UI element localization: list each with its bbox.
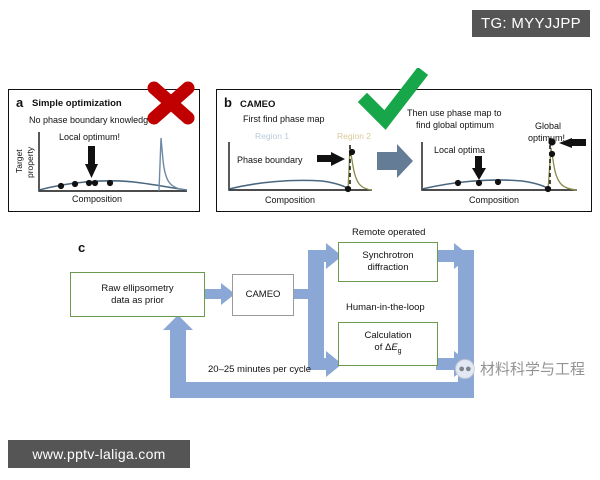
block-right-arrow-icon [377,144,413,178]
flow-arrows [60,222,540,418]
flow-box-calculation[interactable]: Calculation of ΔEg [338,322,438,366]
panel-b-plots [217,90,593,213]
panel-a-plot [9,90,201,213]
flow-box-synchrotron-line1: Synchrotron [362,250,413,262]
cycle-time-note: 20–25 minutes per cycle [208,364,311,375]
wechat-icon: ●● [455,359,475,379]
flow-box-synchrotron-diffraction[interactable]: Synchrotron diffraction [338,242,438,282]
url-watermark: www.pptv-laliga.com [8,440,190,468]
flow-box-synchrotron-line2: diffraction [362,262,413,274]
panel-a-simple-optimization: a Simple optimization No phase boundary … [8,89,200,212]
wechat-watermark: ●● 材料科学与工程 [455,358,585,379]
panel-a-down-arrow-icon [85,146,98,178]
flow-box-calc-line2: of ΔEg [365,342,412,358]
panel-c-workflow: c Raw [60,222,540,418]
panel-b-cameo: b CAMEO First find phase map Region 1 Re… [216,89,592,212]
flow-box-cameo[interactable]: CAMEO [232,274,294,316]
flow-box-raw-line2: data as prior [101,295,173,307]
caption-human-in-the-loop: Human-in-the-loop [346,302,425,313]
local-optima-down-arrow-icon [472,156,486,180]
wechat-account-name: 材料科学与工程 [480,358,585,379]
global-optimum-left-arrow-icon [559,138,586,148]
telegram-watermark: TG: MYYJJPP [472,10,590,37]
flow-box-raw-line1: Raw ellipsometry [101,283,173,295]
flow-box-calc-line1: Calculation [365,330,412,342]
phase-boundary-right-arrow-icon [317,152,345,166]
caption-remote-operated: Remote operated [352,227,425,238]
flow-box-raw-ellipsometry[interactable]: Raw ellipsometry data as prior [70,272,205,317]
flow-box-cameo-label: CAMEO [246,289,281,301]
